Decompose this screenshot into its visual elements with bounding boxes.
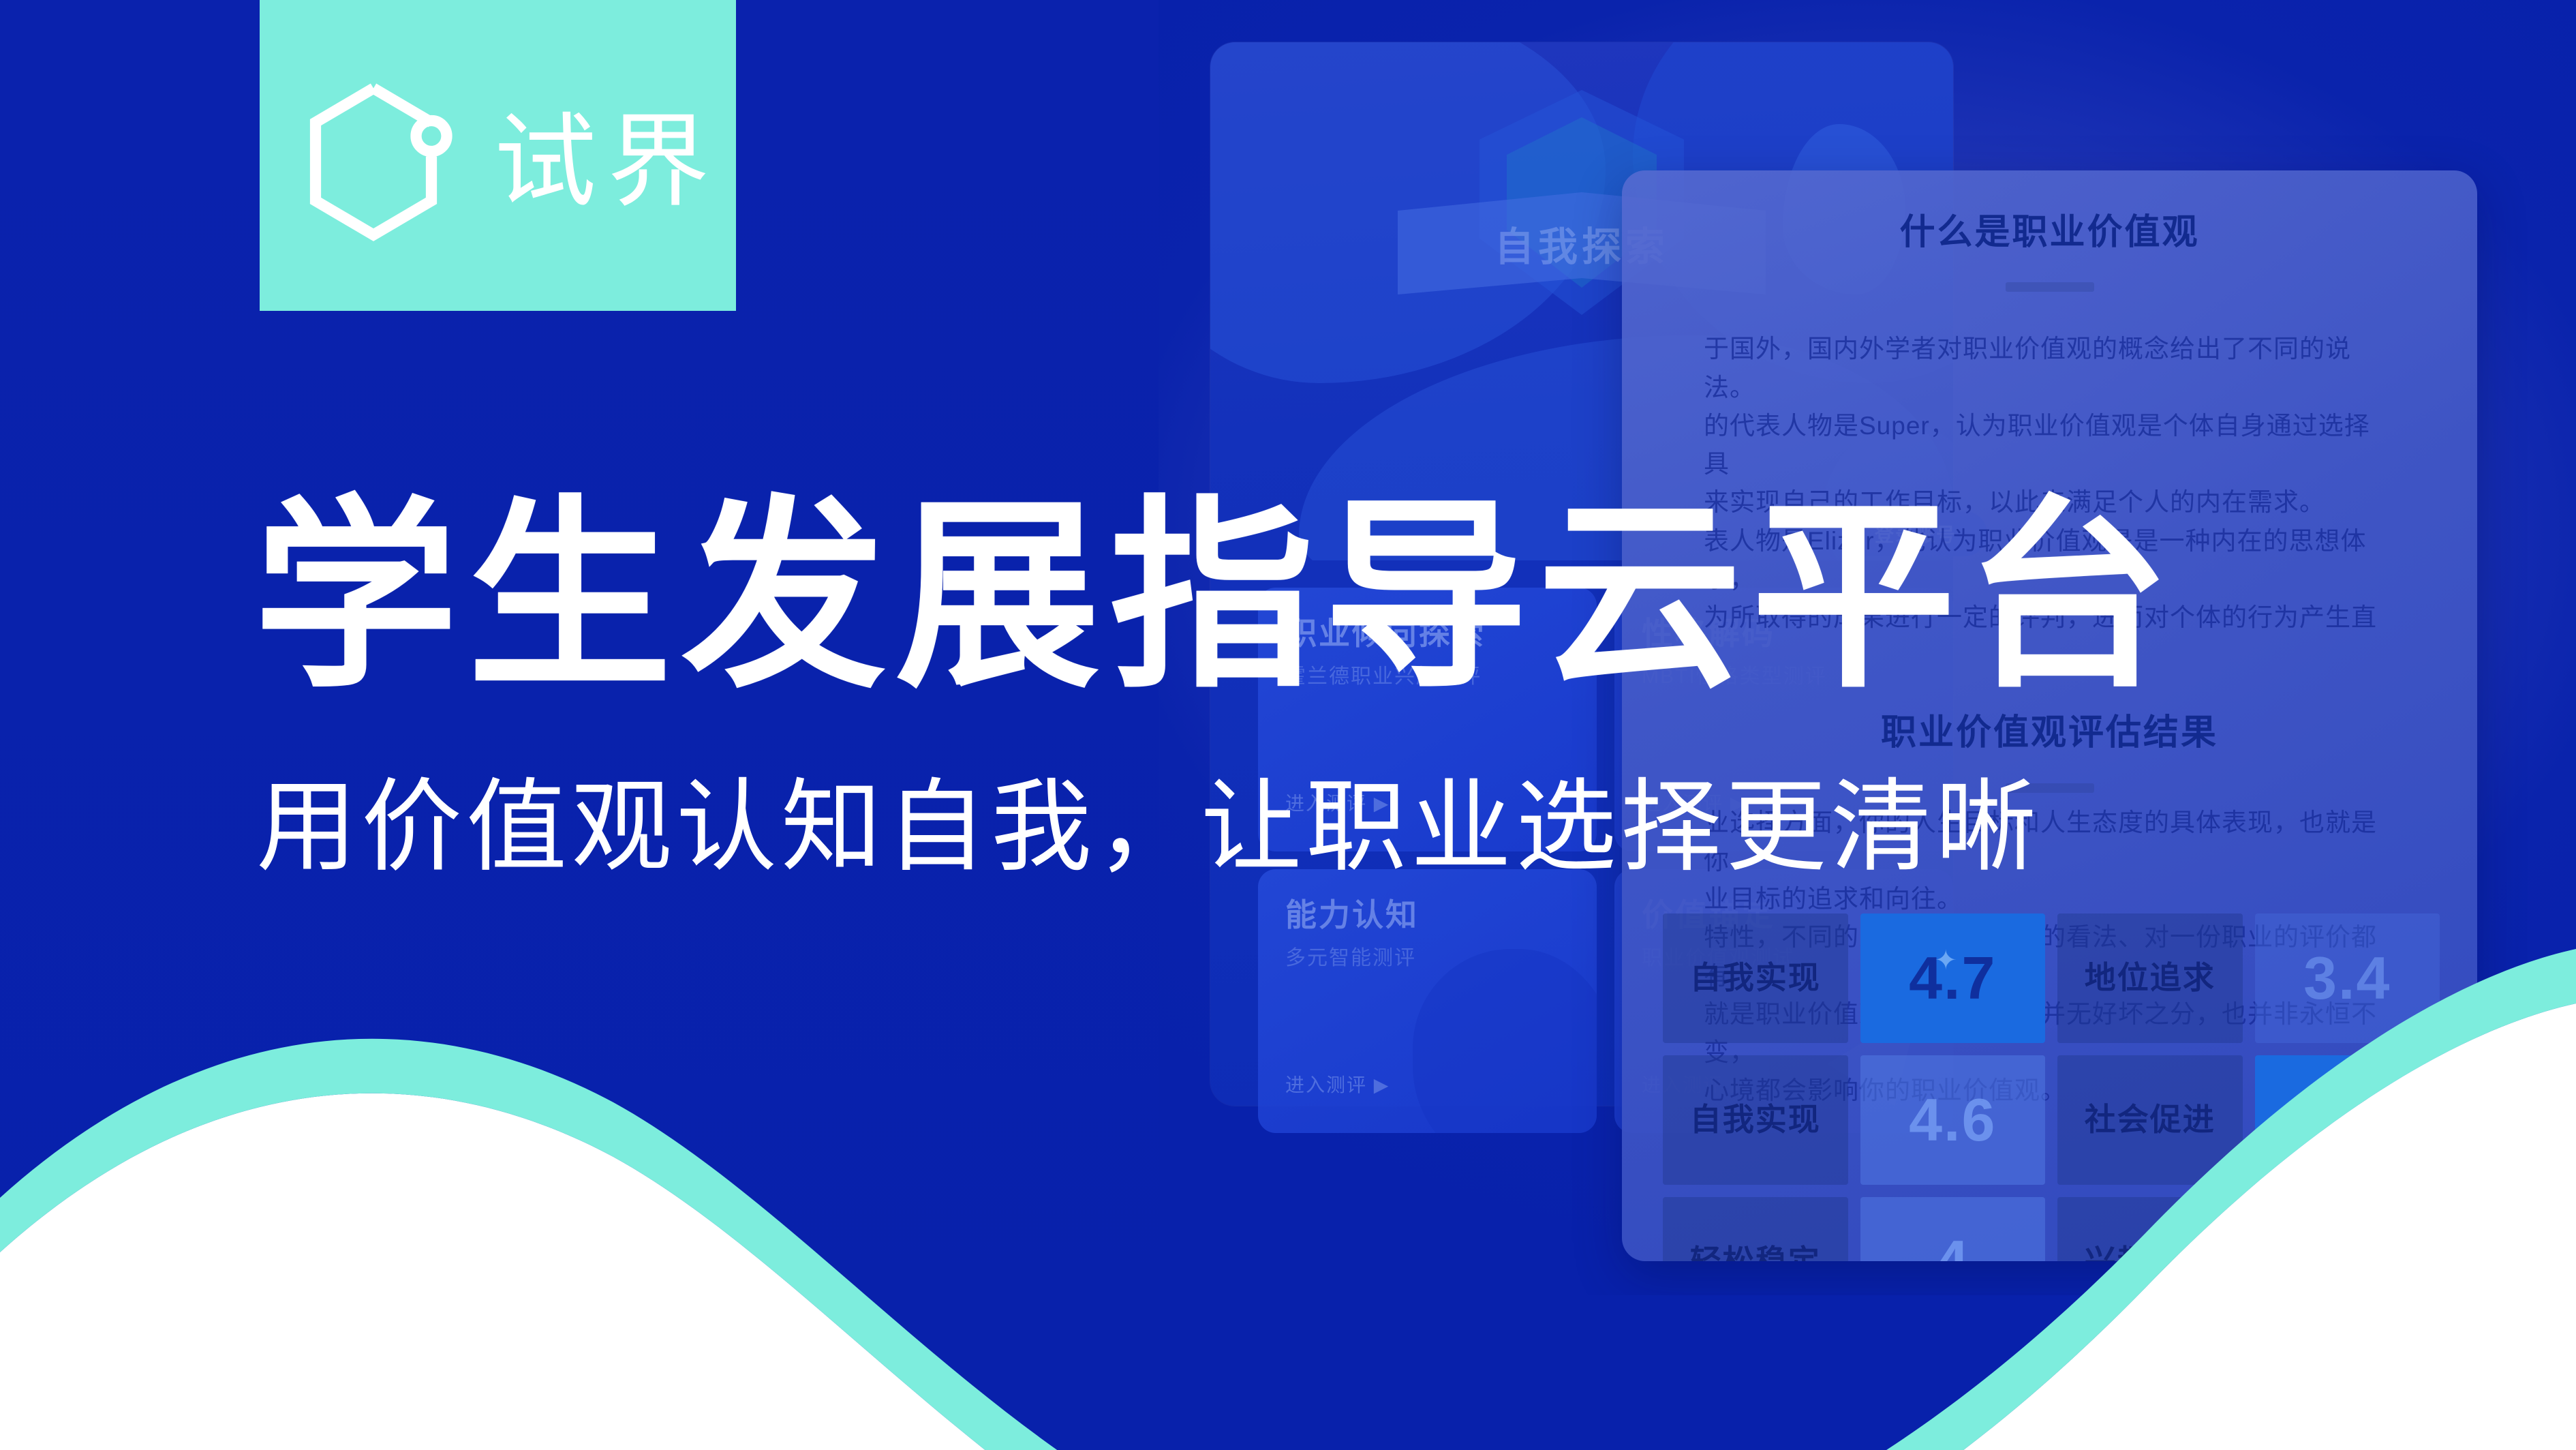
report-section1-title: 什么是职业价值观: [1704, 211, 2395, 254]
score-label: 兴趣特性: [2057, 1197, 2243, 1261]
score-value: 3.4: [2255, 913, 2440, 1043]
sparkle-icon: ✦: [1934, 946, 1959, 976]
score-value: 4.7✦: [1860, 913, 2046, 1043]
score-value: 4.7: [2255, 1055, 2440, 1185]
brand-lockup: 试界: [288, 76, 711, 247]
score-value: 4: [1860, 1197, 2046, 1261]
promo-banner: 自我探索 登录账号 职业倾向探索 霍兰德职业兴趣测评 进入测评 ▶ 性格解码 M…: [0, 0, 2576, 1450]
decor-shape: [1413, 949, 1597, 1133]
report-line: 的代表人物是Super，认为职业价值观是个体自身通过选择具: [1704, 407, 2395, 483]
score-value: 4.2: [2255, 1197, 2440, 1261]
tile-cta[interactable]: 进入测评 ▶: [1285, 1070, 1390, 1098]
score-label: 自我实现: [1663, 913, 1848, 1043]
score-value: 4.6: [1860, 1055, 2046, 1185]
mockup-report-card: 什么是职业价值观 于国外，国内外学者对职业价值观的概念给出了不同的说法。 的代表…: [1622, 170, 2477, 1261]
page-title: 学生发展指导云平台: [254, 494, 2298, 699]
hexagon-dot-icon: [288, 76, 459, 247]
score-label: 社会促进: [2057, 1055, 2243, 1185]
page-subtitle: 用价值观认知自我，让职业选择更清晰: [256, 777, 2301, 878]
report-section2-title: 职业价值观评估结果: [1704, 712, 2395, 754]
brand-logo-box: 试界: [260, 0, 736, 311]
score-label: 轻松稳定: [1663, 1197, 1848, 1261]
tile-title: 能力认知: [1285, 899, 1569, 931]
report-line: 业目标的追求和向往。: [1704, 880, 2395, 918]
feature-tile-ability[interactable]: 能力认知 多元智能测评 进入测评 ▶: [1258, 869, 1597, 1133]
brand-name: 试界: [494, 110, 720, 213]
score-label: 自我实现: [1663, 1055, 1848, 1185]
score-grid: 自我实现 4.7✦ 地位追求 3.4 自我实现 4.6 社会促进 4.7 轻松稳…: [1663, 913, 2440, 1261]
score-label: 地位追求: [2057, 913, 2243, 1043]
report-line: 于国外，国内外学者对职业价值观的概念给出了不同的说法。: [1704, 330, 2395, 406]
title-divider: [2006, 282, 2094, 292]
